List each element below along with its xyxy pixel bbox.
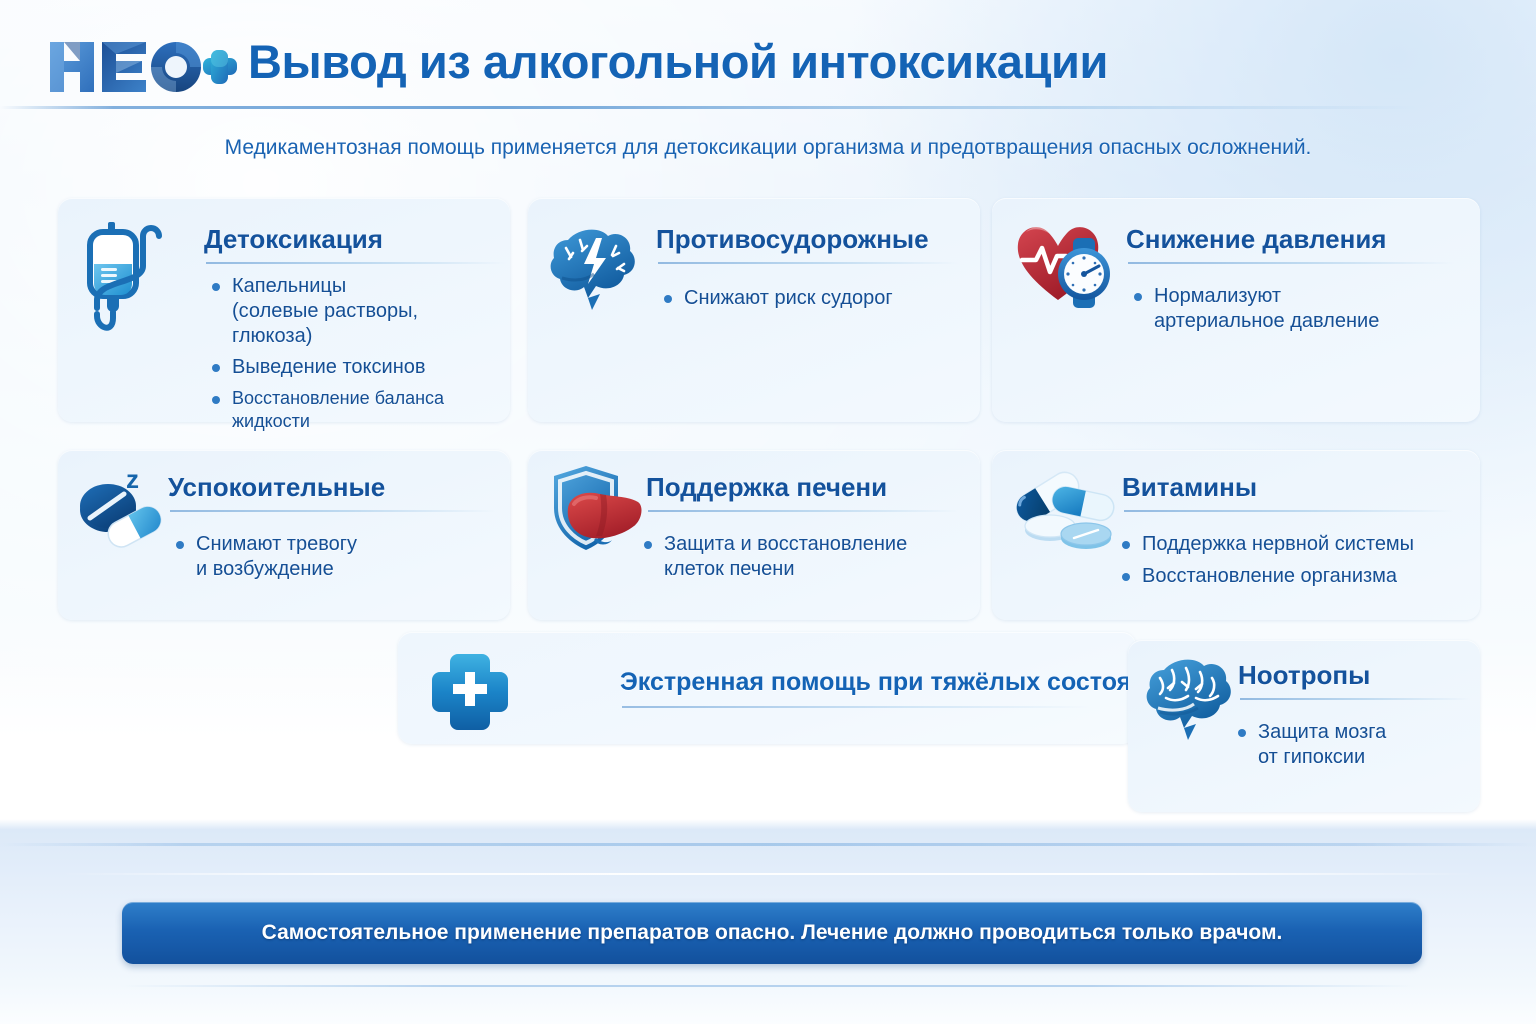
card-blood-pressure[interactable]: Снижение давления Нормализуют артериальн… xyxy=(992,198,1480,422)
card-title-divider xyxy=(170,510,496,512)
card-title: Ноотропы xyxy=(1238,660,1370,691)
card-sedative[interactable]: z Успокоительные Снимают тревогу и возбу… xyxy=(58,450,510,620)
card-bullet-list: Защита и восстановление клеток печени xyxy=(638,532,958,589)
card-title-divider xyxy=(1128,262,1454,264)
card-title-divider xyxy=(206,262,506,264)
card-detox[interactable]: Детоксикация Капельницы (солевые раствор… xyxy=(58,198,510,422)
card-title-divider xyxy=(1124,510,1454,512)
sleeping-pills-icon: z xyxy=(72,464,172,552)
list-item: Выведение токсинов xyxy=(206,355,496,380)
heart-pressure-gauge-icon xyxy=(1014,216,1124,316)
card-emergency-help[interactable]: Экстренная помощь при тяжёлых состояниях xyxy=(398,632,1136,744)
card-anticonvulsant[interactable]: Противосудорожные Снижают риск судорог xyxy=(528,198,980,422)
list-item: Защита и восстановление клеток печени xyxy=(638,532,958,582)
card-title: Поддержка печени xyxy=(646,472,887,503)
title-divider xyxy=(0,106,1420,109)
card-bullet-list: Снимают тревогу и возбуждение xyxy=(170,532,490,589)
page-title: Вывод из алкогольной интоксикации xyxy=(248,34,1108,89)
card-vitamins[interactable]: Витамины Поддержка нервной системы Восст… xyxy=(992,450,1480,620)
card-title: Витамины xyxy=(1122,472,1257,503)
pills-capsules-icon xyxy=(1002,464,1118,560)
svg-text:z: z xyxy=(126,464,139,494)
list-item: Восстановление баланса жидкости xyxy=(206,387,496,432)
list-item: Снимают тревогу и возбуждение xyxy=(170,532,490,582)
section-divider-bottom xyxy=(120,985,1416,987)
list-item: Восстановление организма xyxy=(1116,564,1466,589)
card-bullet-list: Нормализуют артериальное давление xyxy=(1128,284,1448,341)
page-subtitle: Медикаментозная помощь применяется для д… xyxy=(0,136,1536,160)
card-title: Снижение давления xyxy=(1126,224,1386,255)
list-item: Нормализуют артериальное давление xyxy=(1128,284,1448,334)
card-bullet-list: Снижают риск судорог xyxy=(658,286,958,318)
footer-warning-banner: Самостоятельное применение препаратов оп… xyxy=(122,902,1422,964)
iv-drip-icon xyxy=(82,220,188,338)
page-header: Вывод из алкогольной интоксикации xyxy=(0,0,1536,112)
section-divider-top xyxy=(0,843,1536,846)
card-nootropic[interactable]: Ноотропы Защита мозга от гипоксии xyxy=(1128,640,1480,812)
card-liver-support[interactable]: Поддержка печени Защита и восстановление… xyxy=(528,450,980,620)
shield-liver-icon xyxy=(544,464,648,564)
card-title-divider xyxy=(658,262,958,264)
medical-cross-icon xyxy=(428,650,512,730)
emergency-divider xyxy=(622,706,1092,708)
card-title: Детоксикация xyxy=(204,224,383,255)
card-title: Противосудорожные xyxy=(656,224,929,255)
list-item: Капельницы (солевые растворы, глюкоза) xyxy=(206,274,496,348)
list-item: Поддержка нервной системы xyxy=(1116,532,1466,557)
card-bullet-list: Поддержка нервной системы Восстановление… xyxy=(1116,532,1466,596)
list-item: Защита мозга от гипоксии xyxy=(1232,720,1462,770)
card-bullet-list: Защита мозга от гипоксии xyxy=(1232,720,1462,777)
emergency-label: Экстренная помощь при тяжёлых состояниях xyxy=(620,668,1190,697)
list-item: Снижают риск судорог xyxy=(658,286,958,311)
footer-warning-text: Самостоятельное применение препаратов оп… xyxy=(262,921,1283,945)
neo-plus-logo xyxy=(48,34,238,96)
brain-lightning-icon xyxy=(546,220,650,312)
section-divider-highlight xyxy=(60,873,1476,875)
card-title: Успокоительные xyxy=(168,472,385,503)
brain-icon xyxy=(1142,652,1242,740)
card-title-divider xyxy=(1240,698,1470,700)
card-bullet-list: Капельницы (солевые растворы, глюкоза) В… xyxy=(206,274,496,439)
card-title-divider xyxy=(648,510,958,512)
